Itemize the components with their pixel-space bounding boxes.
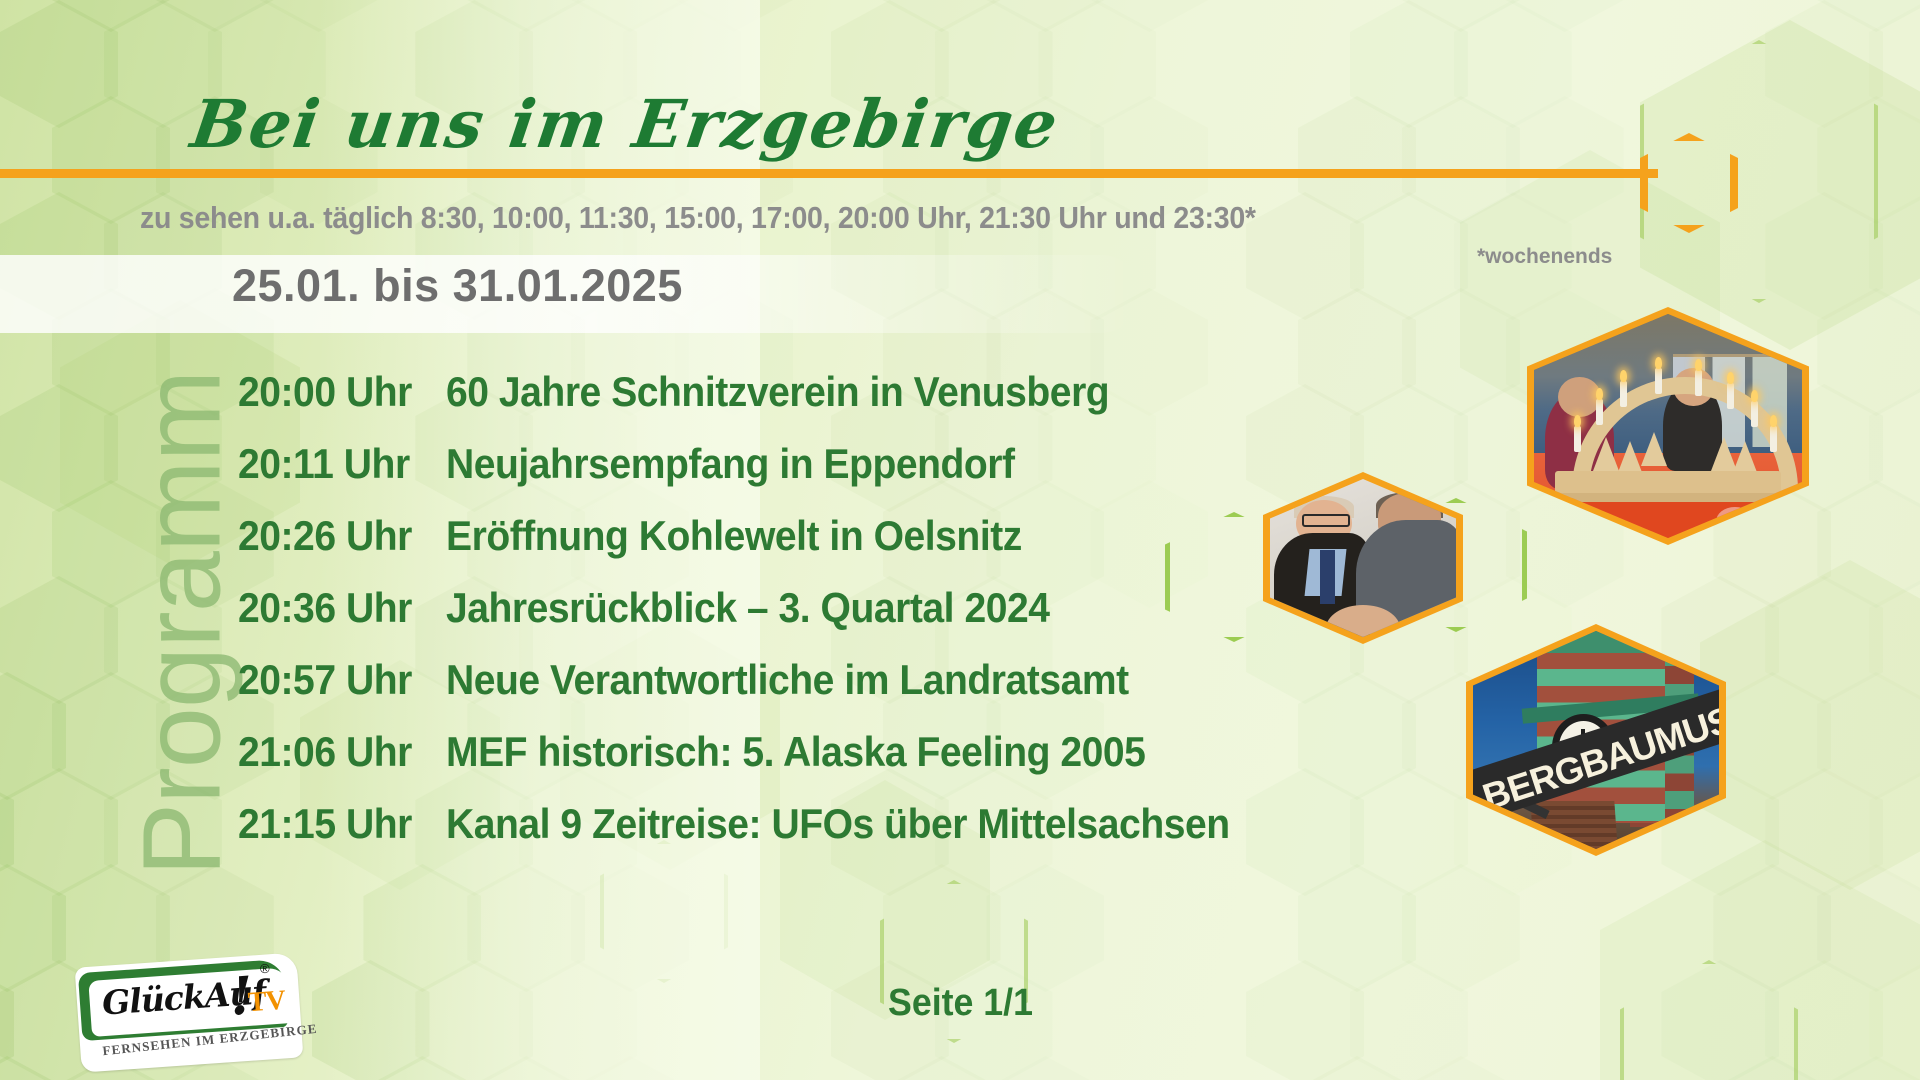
program-row: 20:00 Uhr60 Jahre Schnitzverein in Venus… — [238, 368, 1289, 440]
program-row: 21:06 UhrMEF historisch: 5. Alaska Feeli… — [238, 728, 1289, 800]
program-slide: Programm Bei uns im Erzgebirge zu sehen … — [0, 0, 1920, 1080]
photo-two-men-scene — [1270, 479, 1456, 637]
program-time: 20:26 Uhr — [238, 512, 431, 560]
program-title: Neue Verantwortliche im Landratsamt — [446, 656, 1129, 704]
photo-bergbaumuseum-scene: BERGBAUMUSEUM — [1473, 631, 1719, 849]
program-row: 20:57 UhrNeue Verantwortliche im Landrat… — [238, 656, 1289, 728]
program-time: 20:11 Uhr — [238, 440, 431, 488]
glueckauf-tv-logo: GlückAuf ! ® TV FERNSEHEN IM ERZGEBIRGE — [78, 960, 300, 1065]
header-rule — [0, 169, 1658, 178]
registered-icon: ® — [259, 961, 270, 977]
program-row: 20:11 UhrNeujahrsempfang in Eppendorf — [238, 440, 1289, 512]
page-title: Bei uns im Erzgebirge — [187, 85, 1065, 163]
program-row: 20:26 UhrEröffnung Kohlewelt in Oelsnitz — [238, 512, 1289, 584]
program-title: MEF historisch: 5. Alaska Feeling 2005 — [446, 728, 1145, 776]
program-time: 20:36 Uhr — [238, 584, 431, 632]
program-row: 20:36 UhrJahresrückblick – 3. Quartal 20… — [238, 584, 1289, 656]
page-indicator: Seite 1/1 — [888, 982, 1033, 1025]
program-time: 21:15 Uhr — [238, 800, 431, 848]
program-time: 21:06 Uhr — [238, 728, 431, 776]
logo-tv-suffix: TV — [247, 985, 286, 1019]
photo-schwibbogen-scene — [1534, 314, 1802, 538]
program-title: Eröffnung Kohlewelt in Oelsnitz — [446, 512, 1022, 560]
broadcast-times: zu sehen u.a. täglich 8:30, 10:00, 11:30… — [140, 200, 1256, 236]
program-time: 20:57 Uhr — [238, 656, 431, 704]
program-title: 60 Jahre Schnitzverein in Venusberg — [446, 368, 1109, 416]
section-label-programm: Programm — [119, 264, 246, 984]
program-time: 20:00 Uhr — [238, 368, 431, 416]
program-title: Kanal 9 Zeitreise: UFOs über Mittelsachs… — [446, 800, 1230, 848]
program-row: 21:15 UhrKanal 9 Zeitreise: UFOs über Mi… — [238, 800, 1289, 872]
program-list: 20:00 Uhr60 Jahre Schnitzverein in Venus… — [238, 368, 1289, 872]
footnote-weekends: *wochenends — [1477, 245, 1612, 269]
date-range: 25.01. bis 31.01.2025 — [232, 260, 683, 312]
program-title: Neujahrsempfang in Eppendorf — [446, 440, 1015, 488]
program-title: Jahresrückblick – 3. Quartal 2024 — [446, 584, 1049, 632]
